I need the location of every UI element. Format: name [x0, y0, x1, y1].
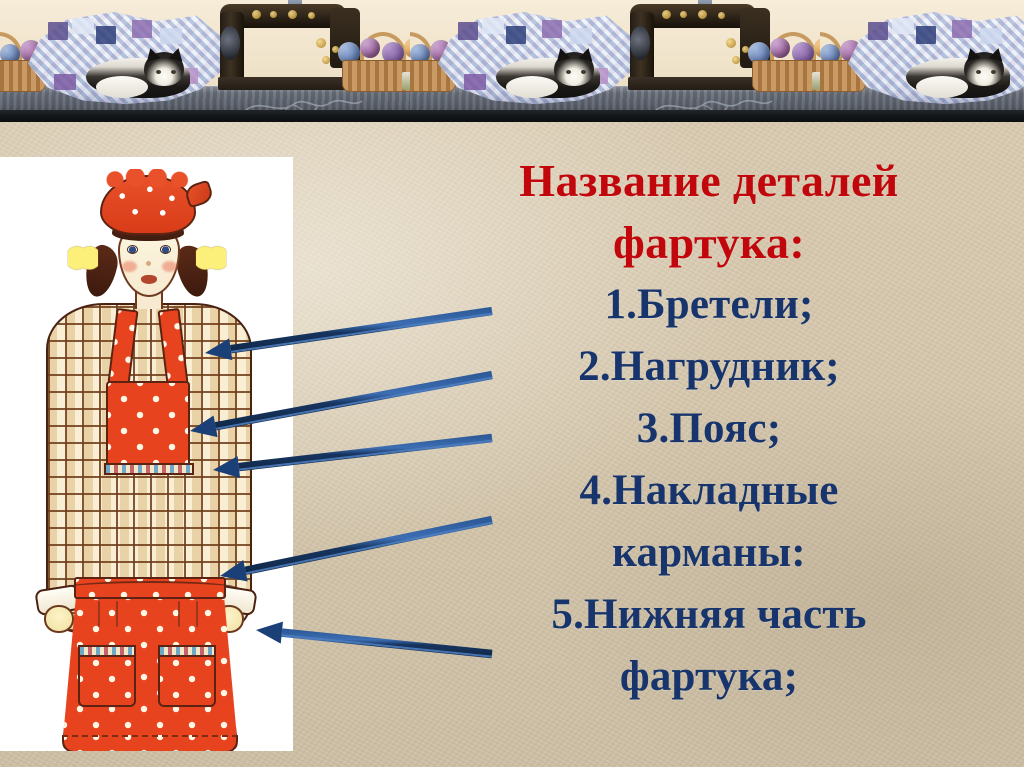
apron-pocket-trim-right — [158, 645, 216, 657]
quilt-cloth — [848, 12, 1024, 104]
apron-gather — [178, 601, 180, 627]
cat-eye-left — [976, 70, 981, 74]
machine-gold-decal — [680, 11, 687, 18]
quilt-cloth — [438, 12, 634, 104]
border-tile — [0, 0, 410, 122]
machine-gold-decal — [252, 10, 261, 19]
cat-belly — [916, 76, 968, 98]
quilt-patch — [952, 20, 972, 38]
cat-illustration — [906, 46, 1010, 98]
border-tile — [820, 0, 1024, 122]
thread-spool — [812, 72, 820, 90]
cat-eye-right — [171, 70, 176, 74]
page-title-line-2: фартука: — [404, 212, 1014, 274]
quilt-cloth — [28, 12, 224, 104]
machine-gold-decal — [322, 56, 330, 64]
machine-gold-decal — [308, 12, 315, 19]
mouth — [141, 275, 157, 284]
apron-bib-trim — [104, 463, 194, 475]
quilt-patch — [542, 20, 562, 38]
apron-pocket-trim-left — [78, 645, 136, 657]
quilt-patch — [458, 22, 478, 40]
apron-gather — [98, 601, 100, 627]
border-base-bar — [0, 110, 1024, 122]
machine-gold-decal — [270, 11, 277, 18]
nose — [146, 261, 151, 266]
machine-gold-decal — [288, 10, 297, 19]
thread-spool — [402, 72, 410, 90]
hair-bow-right — [196, 245, 226, 271]
machine-handwheel — [630, 26, 650, 60]
girl-figure — [0, 157, 293, 751]
cat-eye-right — [991, 70, 996, 74]
cat-belly — [506, 76, 558, 98]
quilt-patch — [980, 28, 1002, 44]
machine-gold-decal — [662, 10, 671, 19]
quilt-patch — [72, 18, 94, 34]
quilt-patch — [48, 22, 68, 40]
quilt-patch — [868, 22, 888, 40]
hand-left — [44, 605, 74, 633]
yarn-basket — [338, 38, 410, 92]
quilt-patch — [96, 26, 116, 44]
basket-weave — [752, 60, 820, 92]
apron-hem — [62, 735, 238, 751]
quilt-patch — [570, 28, 592, 44]
cat-eye-right — [581, 70, 586, 74]
apron-gather — [116, 601, 118, 627]
page-title-line-1: Название деталей — [404, 150, 1014, 212]
machine-gold-decal — [698, 10, 707, 19]
apron-gather — [196, 601, 198, 627]
quilt-patch — [132, 20, 152, 38]
apron-part-item-5: 5.Нижняя часть — [404, 584, 1014, 646]
cat-eye-left — [566, 70, 571, 74]
quilt-patch — [54, 74, 76, 90]
headscarf-ruffle — [104, 169, 196, 187]
cheek-left — [122, 261, 137, 272]
cat-illustration — [86, 46, 190, 98]
machine-gold-decal — [726, 38, 736, 48]
slide-root: Название деталей фартука: 1.Бретели; 2.Н… — [0, 0, 1024, 767]
apron-part-item-4: 4.Накладные — [404, 460, 1014, 522]
quilt-patch — [464, 74, 486, 90]
apron-waist-ties — [60, 581, 240, 597]
quilt-patch — [160, 28, 182, 44]
machine-gold-decal — [732, 56, 740, 64]
apron-part-item-1: 1.Бретели; — [404, 274, 1014, 336]
text-column: Название деталей фартука: 1.Бретели; 2.Н… — [404, 150, 1014, 767]
yarn-basket — [748, 38, 820, 92]
eye-right — [160, 245, 171, 254]
apron-part-item-2: 2.Нагрудник; — [404, 336, 1014, 398]
decorative-sewing-border — [0, 0, 1024, 122]
quilt-patch — [482, 18, 504, 34]
apron-bib — [106, 381, 190, 467]
machine-gold-decal — [718, 12, 725, 19]
eye-left — [127, 245, 138, 254]
hair-bow-left — [68, 245, 98, 271]
apron-part-item-3: 3.Пояс; — [404, 398, 1014, 460]
basket-weave — [342, 60, 410, 92]
apron-part-item-4-cont: карманы: — [404, 522, 1014, 584]
apron-illustration-panel — [0, 157, 293, 751]
quilt-patch — [892, 18, 914, 34]
border-tile — [410, 0, 820, 122]
machine-gold-decal — [316, 38, 326, 48]
cat-belly — [96, 76, 148, 98]
cheek-right — [162, 261, 177, 272]
quilt-patch — [916, 26, 936, 44]
machine-handwheel — [220, 26, 240, 60]
quilt-patch — [506, 26, 526, 44]
yarn-ball — [360, 38, 380, 58]
cat-eye-left — [156, 70, 161, 74]
apron-part-item-5-cont: фартука; — [404, 646, 1014, 708]
cat-illustration — [496, 46, 600, 98]
yarn-ball — [770, 38, 790, 58]
